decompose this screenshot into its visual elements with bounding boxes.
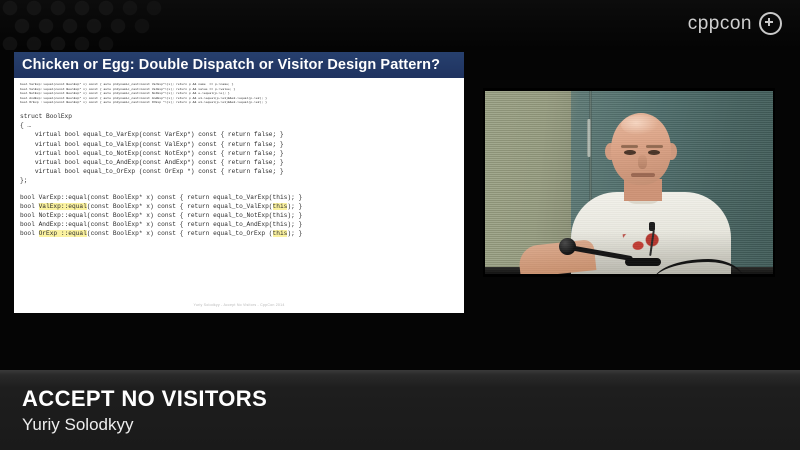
impl-mid: (const BoolExp* x) const { return equal_…: [87, 221, 273, 228]
talk-title: ACCEPT NO VISITORS: [22, 386, 267, 412]
impl-arg: this: [273, 194, 288, 201]
speaker-video-feed[interactable]: [483, 88, 775, 277]
impl-name: OrExp ::equal: [39, 230, 87, 237]
speaker-name: Yuriy Solodkyy: [22, 415, 134, 435]
impl-row-2: bool NotExp::equal(const BoolExp* x) con…: [20, 212, 302, 219]
impl-mid: (const BoolExp* x) const { return equal_…: [87, 212, 273, 219]
slide-footer: Yuriy Solodkyy - Accept No Visitors - Cp…: [14, 303, 464, 307]
code-block-struct: struct BoolExp { … virtual bool equal_to…: [20, 112, 458, 186]
video-frame: [485, 91, 773, 274]
top-header-bar: cppcon: [0, 0, 800, 50]
impl-prefix: bool: [20, 212, 39, 219]
impl-mid: (const BoolExp* x) const { return equal_…: [87, 194, 273, 201]
speaker-nose: [638, 155, 647, 169]
microphone-base: [625, 258, 661, 266]
cppcon-logo-text: cppcon: [688, 14, 752, 33]
code-struct-open: struct BoolExp { …: [20, 113, 72, 129]
impl-suffix: ); }: [287, 203, 302, 210]
hex-pattern-decoration: [0, 0, 330, 50]
slide-panel: Chicken or Egg: Double Dispatch or Visit…: [14, 52, 464, 313]
code-method-3: virtual bool equal_to_AndExp(const AndEx…: [20, 159, 284, 166]
impl-name: VarExp::equal: [39, 194, 87, 201]
slide-title: Chicken or Egg: Double Dispatch or Visit…: [14, 52, 464, 78]
code-struct-close: };: [20, 177, 27, 184]
impl-arg: this: [273, 230, 288, 237]
code-block-top: bool VarExp::equal(const BoolExp* x) con…: [20, 82, 458, 105]
impl-row-3: bool AndExp::equal(const BoolExp* x) con…: [20, 221, 302, 228]
code-block-impls: bool VarExp::equal(const BoolExp* x) con…: [20, 193, 458, 239]
impl-suffix: ); }: [287, 230, 302, 237]
impl-prefix: bool: [20, 221, 39, 228]
impl-row-0: bool VarExp::equal(const BoolExp* x) con…: [20, 194, 302, 201]
impl-name: NotExp::equal: [39, 212, 87, 219]
impl-mid: (const BoolExp* x) const { return equal_…: [87, 230, 273, 237]
door-handle: [587, 119, 591, 157]
impl-suffix: ); }: [287, 221, 302, 228]
speaker-brow-left: [621, 145, 638, 148]
plus-in-circle-icon: [759, 12, 782, 35]
impl-prefix: bool: [20, 194, 39, 201]
cppcon-logo: cppcon: [688, 12, 782, 35]
impl-name: ValExp::equal: [39, 203, 87, 210]
impl-prefix: bool: [20, 230, 39, 237]
impl-suffix: ); }: [287, 212, 302, 219]
impl-row-1: bool ValExp::equal(const BoolExp* x) con…: [20, 203, 302, 210]
speaker-brow-right: [646, 145, 663, 148]
impl-name: AndExp::equal: [39, 221, 87, 228]
impl-mid: (const BoolExp* x) const { return equal_…: [87, 203, 273, 210]
code-method-0: virtual bool equal_to_VarExp(const VarEx…: [20, 131, 284, 138]
impl-prefix: bool: [20, 203, 39, 210]
speaker-eye-right: [648, 150, 660, 155]
impl-arg: this: [273, 212, 288, 219]
presentation-viewer: cppcon Chicken or Egg: Double Dispatch o…: [0, 0, 800, 450]
head-highlight: [621, 115, 659, 135]
speaker-eye-left: [624, 150, 636, 155]
code-method-1: virtual bool equal_to_ValExp(const ValEx…: [20, 141, 284, 148]
code-spacer: [20, 105, 458, 112]
code-spacer-2: [20, 186, 458, 193]
impl-suffix: ); }: [287, 194, 302, 201]
code-method-4: virtual bool equal_to_OrExp (const OrExp…: [20, 168, 284, 175]
slide-body: bool VarExp::equal(const BoolExp* x) con…: [14, 78, 464, 313]
code-method-2: virtual bool equal_to_NotExp(const NotEx…: [20, 150, 284, 157]
impl-arg: this: [273, 221, 288, 228]
speaker-mouth: [631, 173, 655, 177]
impl-row-4: bool OrExp ::equal(const BoolExp* x) con…: [20, 230, 302, 237]
impl-arg: this: [273, 203, 288, 210]
